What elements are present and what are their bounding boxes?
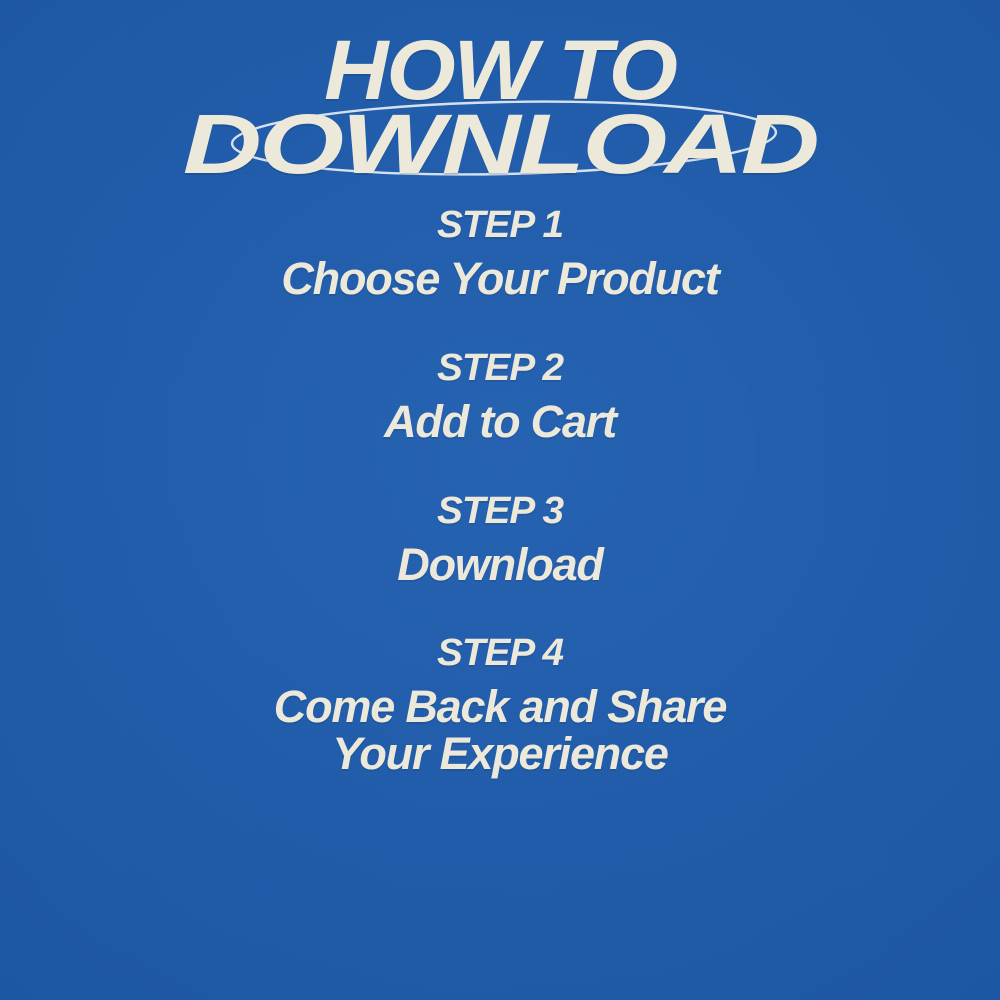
step-4-title-line-2: Your Experience [0,731,1000,778]
page-title: HOW TO DOWNLOAD [0,34,1000,180]
page-title-line-1: HOW TO [0,34,1000,106]
step-3-label: STEP 3 [0,492,1000,530]
steps-list: STEP 1 Choose Your Product STEP 2 Add to… [0,206,1000,778]
step-4-title: Come Back and Share Your Experience [0,684,1000,778]
step-1-label: STEP 1 [0,206,1000,244]
step-4-label: STEP 4 [0,634,1000,672]
step-1-title-line-1: Choose Your Product [0,256,1000,303]
step-2-title-line-1: Add to Cart [0,399,1000,446]
step-2-title: Add to Cart [0,399,1000,446]
step-item-2: STEP 2 Add to Cart [0,349,1000,446]
step-1-title: Choose Your Product [0,256,1000,303]
step-item-1: STEP 1 Choose Your Product [0,206,1000,303]
step-3-title: Download [0,542,1000,589]
step-4-title-line-1: Come Back and Share [0,684,1000,731]
step-3-title-line-1: Download [0,542,1000,589]
step-2-label: STEP 2 [0,349,1000,387]
step-item-4: STEP 4 Come Back and Share Your Experien… [0,634,1000,778]
page-title-line-2: DOWNLOAD [0,108,1000,180]
step-item-3: STEP 3 Download [0,492,1000,589]
poster-stage: HOW TO DOWNLOAD STEP 1 Choose Your Produ… [0,0,1000,1000]
